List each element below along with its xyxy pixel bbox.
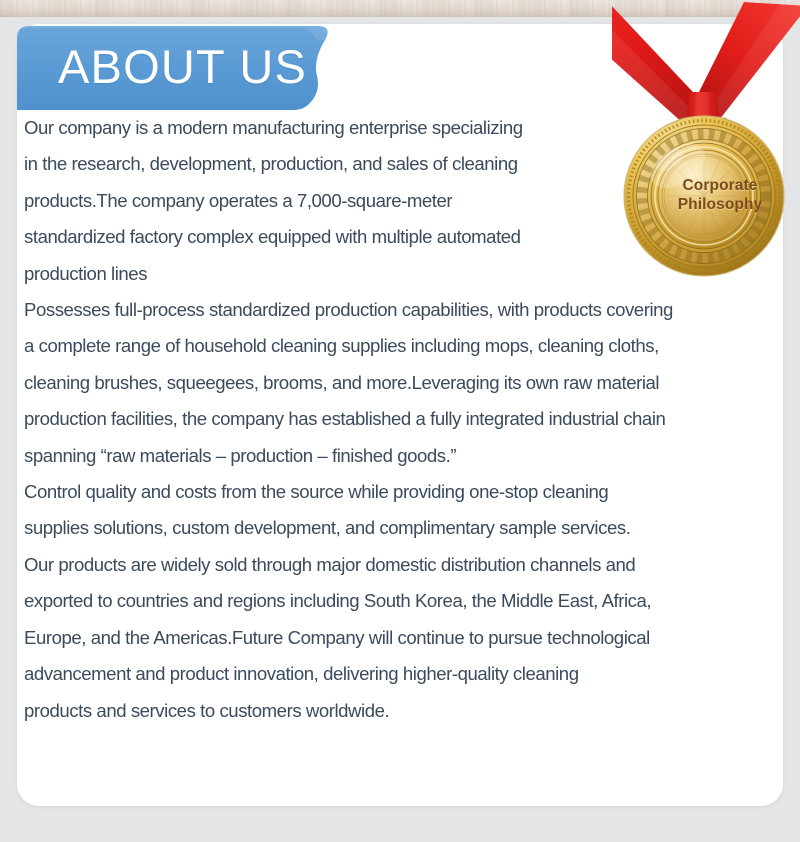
body-line: advancement and product innovation, deli… xyxy=(24,656,776,692)
body-line: production lines xyxy=(24,256,776,292)
about-us-body: Our company is a modern manufacturing en… xyxy=(24,110,776,729)
body-line: Control quality and costs from the sourc… xyxy=(24,474,776,510)
body-line: exported to countries and regions includ… xyxy=(24,583,776,619)
body-line: Our company is a modern manufacturing en… xyxy=(24,110,776,146)
body-line: cleaning brushes, squeegees, brooms, and… xyxy=(24,365,776,401)
body-line: Possesses full-process standardized prod… xyxy=(24,292,776,328)
body-line: Our products are widely sold through maj… xyxy=(24,547,776,583)
body-line: standardized factory complex equipped wi… xyxy=(24,219,776,255)
about-us-banner: ABOUT US xyxy=(17,26,357,106)
body-line: supplies solutions, custom development, … xyxy=(24,510,776,546)
body-line: production facilities, the company has e… xyxy=(24,401,776,437)
page-title: ABOUT US xyxy=(58,32,307,102)
body-line: spanning “raw materials – production – f… xyxy=(24,438,776,474)
body-line: Europe, and the Americas.Future Company … xyxy=(24,620,776,656)
body-line: products and services to customers world… xyxy=(24,693,776,729)
wood-texture-strip xyxy=(0,0,800,17)
body-line: products.The company operates a 7,000-sq… xyxy=(24,183,776,219)
body-line: a complete range of household cleaning s… xyxy=(24,328,776,364)
body-line: in the research, development, production… xyxy=(24,146,776,182)
